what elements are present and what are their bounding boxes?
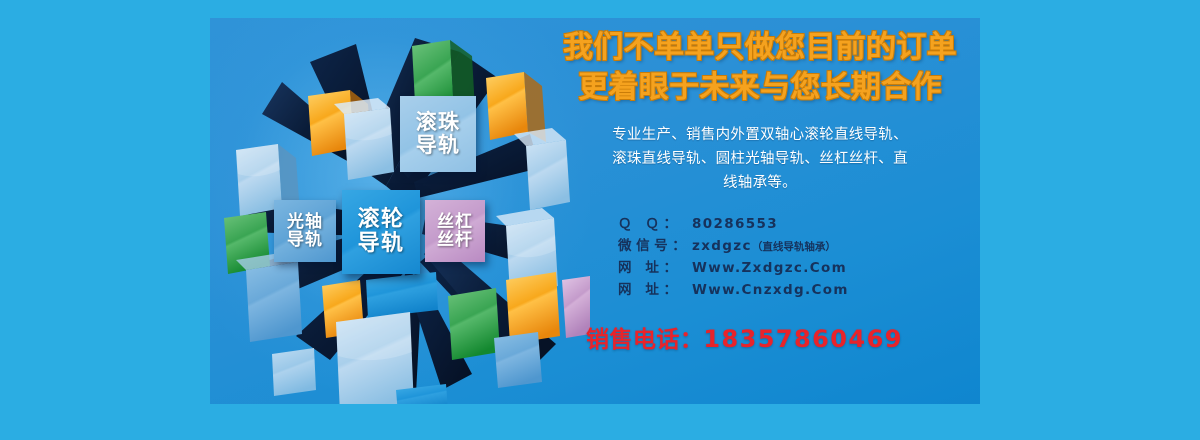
- sales-phone-number: 18357860469: [703, 325, 903, 353]
- sales-phone: 销售电话：18357860469: [550, 320, 970, 354]
- page-canvas: 滚珠 导轨 光轴 导轨 滚轮 导轨 丝杠 丝杆 我们不单单只做您目前的订单 更着…: [0, 0, 1200, 440]
- cube-label-gunzhu-line2: 导轨: [416, 134, 461, 157]
- contact-value-website-1[interactable]: Www.Zxdgzc.Com: [692, 258, 847, 280]
- cube-label-gunlun-line2: 导轨: [358, 232, 405, 256]
- cube-label-sigang-line2: 丝杆: [437, 231, 473, 249]
- cube-label-gunlun-line1: 滚轮: [358, 208, 405, 232]
- subcopy-line-3: 线轴承等。: [550, 172, 970, 196]
- contact-row-qq: Ｑ Ｑ： 80286553: [618, 214, 970, 236]
- cube-label-guangzhou-line2: 导轨: [287, 231, 323, 249]
- contact-note-wechat: （直线导轨轴承）: [752, 239, 836, 256]
- sales-phone-label: 销售电话：: [586, 327, 703, 353]
- contact-row-website-1[interactable]: 网 址： Www.Zxdgzc.Com: [618, 258, 970, 280]
- contact-row-wechat: 微信号： zxdgzc （直线导轨轴承）: [618, 236, 970, 258]
- contact-row-website-2[interactable]: 网 址： Www.Cnzxdg.Com: [618, 280, 970, 302]
- promo-banner: 滚珠 导轨 光轴 导轨 滚轮 导轨 丝杠 丝杆 我们不单单只做您目前的订单 更着…: [210, 18, 980, 404]
- contact-label-website-1: 网 址：: [618, 258, 692, 280]
- contact-block: Ｑ Ｑ： 80286553 微信号： zxdgzc （直线导轨轴承） 网 址： …: [550, 214, 970, 301]
- headline-line-1: 我们不单单只做您目前的订单: [550, 28, 970, 68]
- contact-value-qq: 80286553: [692, 214, 778, 236]
- cube-label-guangzhou-daogui: 光轴 导轨: [274, 200, 336, 262]
- banner-copy-column: 我们不单单只做您目前的订单 更着眼于未来与您长期合作 专业生产、销售内外置双轴心…: [550, 28, 970, 394]
- headline-line-2: 更着眼于未来与您长期合作: [550, 68, 970, 108]
- subcopy-line-1: 专业生产、销售内外置双轴心滚轮直线导轨、: [550, 124, 970, 148]
- cube-label-gunzhu-daogui: 滚珠 导轨: [400, 96, 476, 172]
- cube-label-sigang-sigan: 丝杠 丝杆: [425, 200, 485, 262]
- contact-label-website-2: 网 址：: [618, 280, 692, 302]
- subcopy-block: 专业生产、销售内外置双轴心滚轮直线导轨、 滚珠直线导轨、圆柱光轴导轨、丝杠丝杆、…: [550, 124, 970, 196]
- cube-label-gunzhu-line1: 滚珠: [416, 111, 461, 134]
- subcopy-line-2: 滚珠直线导轨、圆柱光轴导轨、丝杠丝杆、直: [550, 148, 970, 172]
- contact-value-website-2[interactable]: Www.Cnzxdg.Com: [692, 280, 849, 302]
- contact-value-wechat: zxdgzc: [692, 236, 752, 258]
- contact-label-wechat: 微信号：: [618, 236, 692, 258]
- cube-label-gunlun-daogui: 滚轮 导轨: [342, 190, 420, 274]
- cube-label-sigang-line1: 丝杠: [437, 213, 473, 231]
- contact-label-qq: Ｑ Ｑ：: [618, 214, 692, 236]
- cube-label-guangzhou-line1: 光轴: [287, 213, 323, 231]
